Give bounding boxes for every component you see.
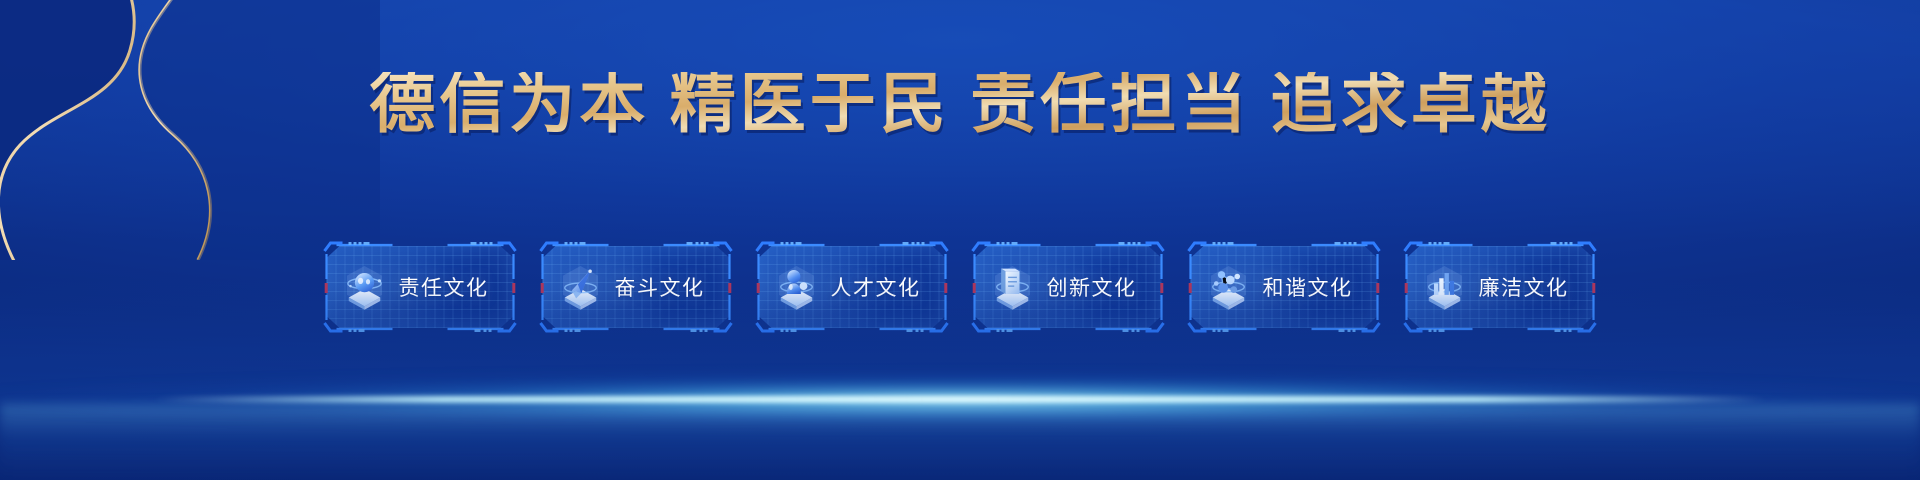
horizon-light-bounce <box>0 404 1920 480</box>
slogan-text: 德信为本 精医于民 责任担当 追求卓越 <box>369 72 1551 138</box>
page-title: 德信为本 精医于民 责任担当 追求卓越 <box>0 72 1920 138</box>
culture-banner: 德信为本 精医于民 责任担当 追求卓越 <box>0 0 1920 480</box>
horizon-light-core <box>154 396 1767 403</box>
